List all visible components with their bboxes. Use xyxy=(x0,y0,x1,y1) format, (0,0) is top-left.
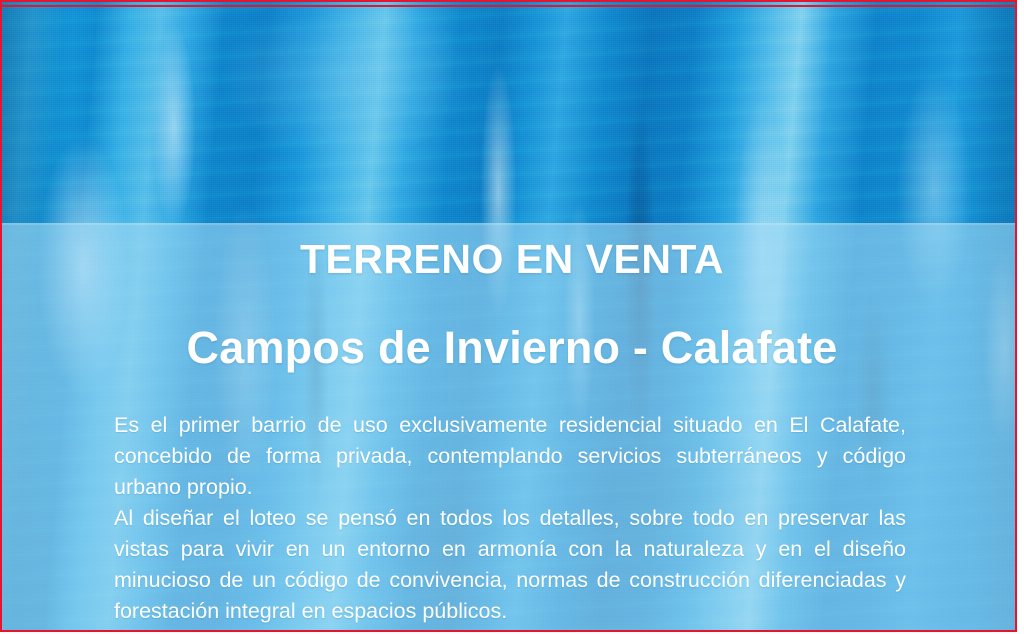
slide-content: TERRENO EN VENTA Campos de Invierno - Ca… xyxy=(0,221,1024,634)
page-subtitle: Campos de Invierno - Calafate xyxy=(0,323,1024,373)
page-title: TERRENO EN VENTA xyxy=(0,237,1024,283)
description-text: Es el primer barrio de uso exclusivament… xyxy=(114,410,906,627)
slide-canvas: TERRENO EN VENTA Campos de Invierno - Ca… xyxy=(0,0,1024,634)
description-paragraph-1: Es el primer barrio de uso exclusivament… xyxy=(114,410,906,503)
description-paragraph-2: Al diseñar el loteo se pensó en todos lo… xyxy=(114,503,906,627)
